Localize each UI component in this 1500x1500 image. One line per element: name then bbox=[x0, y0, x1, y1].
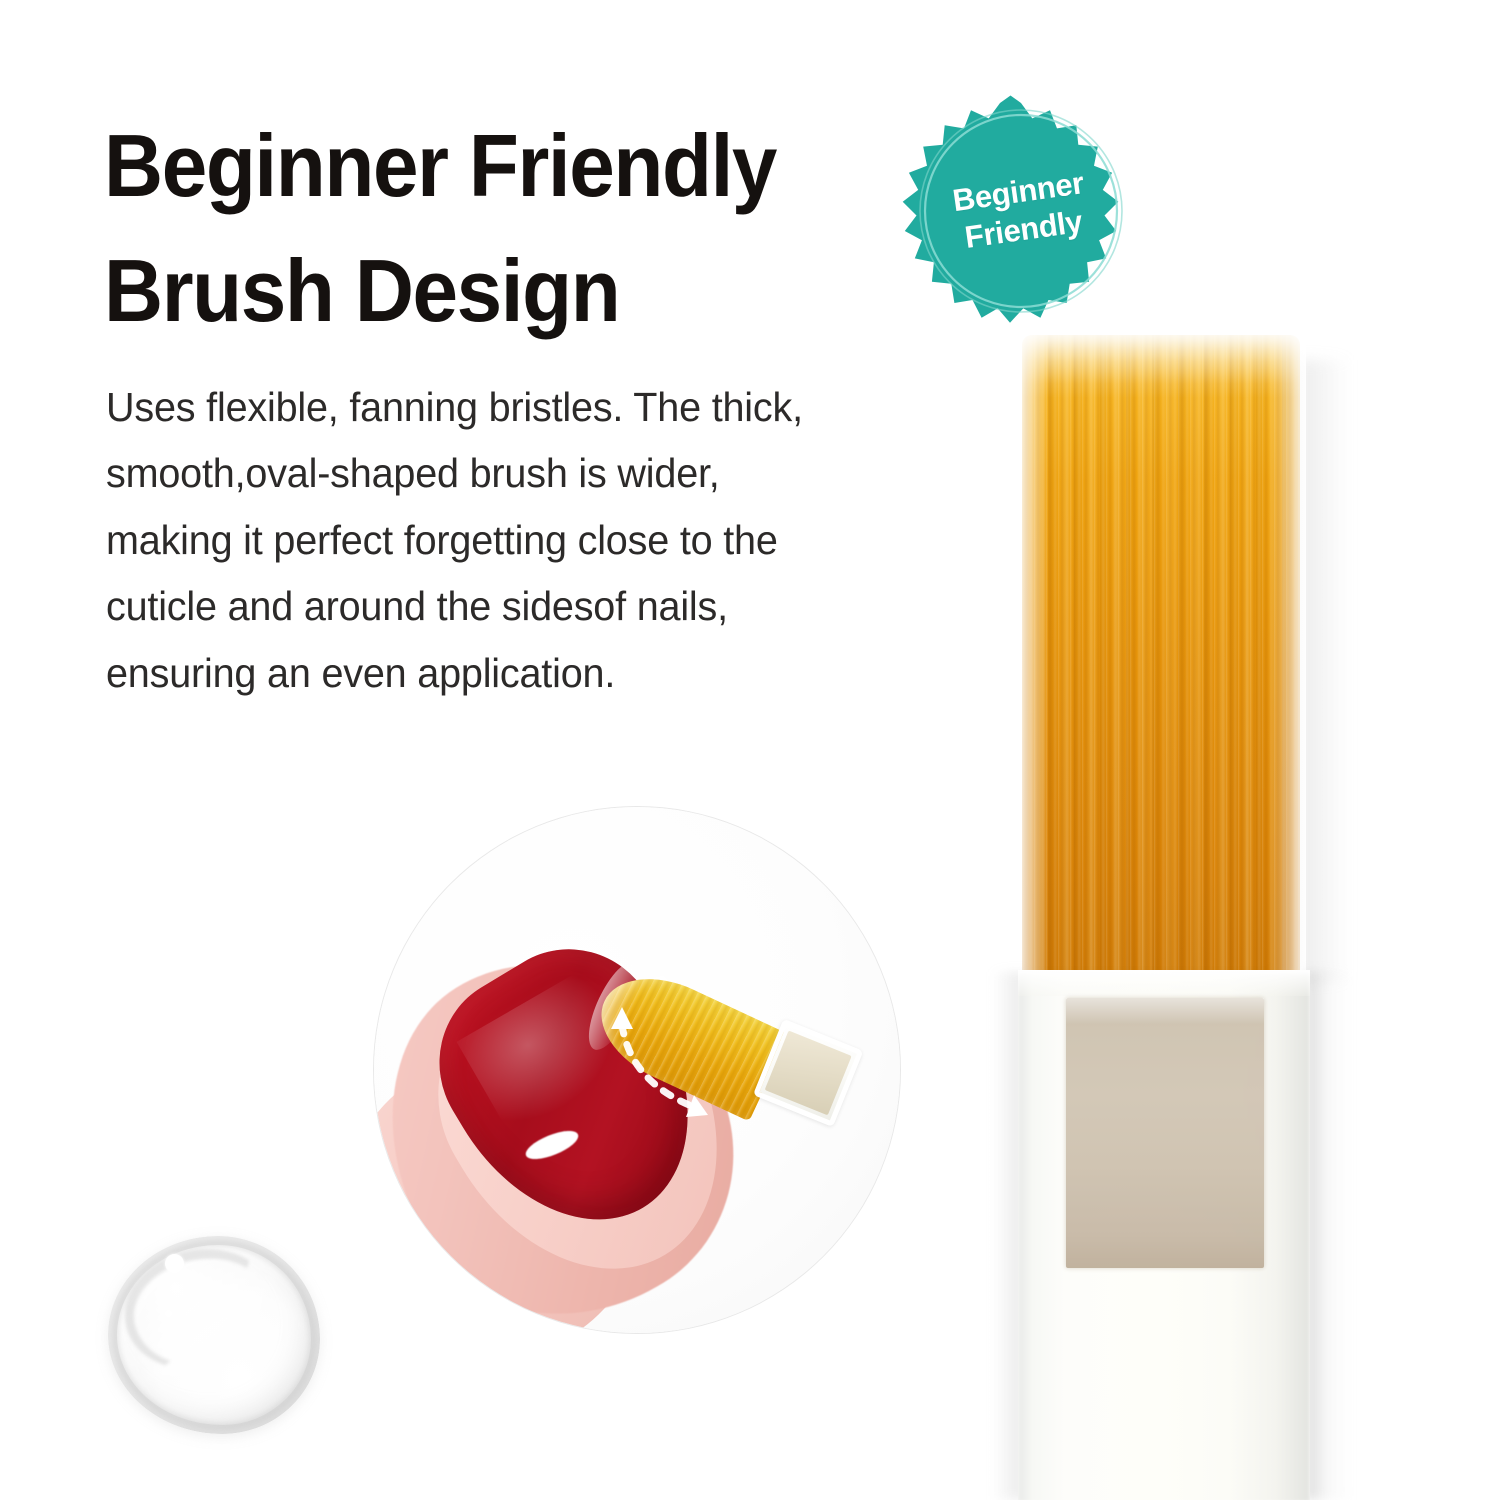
page-title: Beginner Friendly Brush Design bbox=[104, 104, 867, 354]
nail-application-photo bbox=[374, 807, 900, 1333]
starburst-seal-icon bbox=[893, 83, 1149, 339]
bristle-edge-left bbox=[1014, 328, 1048, 988]
beginner-friendly-badge: Beginner Friendly bbox=[893, 83, 1149, 339]
handle-top-gloss bbox=[1018, 970, 1310, 996]
stroke-direction-arrow-icon bbox=[602, 1003, 752, 1143]
handle-ferrule-core bbox=[1066, 998, 1264, 1268]
droplet-specular-large bbox=[165, 1254, 184, 1273]
infographic-canvas: Beginner Friendly Brush Design Uses flex… bbox=[0, 0, 1500, 1500]
brush-bristles bbox=[1022, 335, 1300, 985]
water-droplet-decoration bbox=[108, 1236, 320, 1434]
description-paragraph: Uses flexible, fanning bristles. The thi… bbox=[106, 374, 907, 706]
handle-shadow-right bbox=[1306, 972, 1352, 1500]
droplet-specular-small bbox=[165, 1310, 172, 1317]
bristle-edge-right bbox=[1272, 328, 1306, 988]
handle-core-gloss bbox=[1066, 998, 1264, 1024]
applicator-ferrule-inner bbox=[765, 1031, 852, 1116]
bristle-tip-feather bbox=[1022, 328, 1300, 398]
brush-product-image bbox=[1000, 320, 1360, 1500]
